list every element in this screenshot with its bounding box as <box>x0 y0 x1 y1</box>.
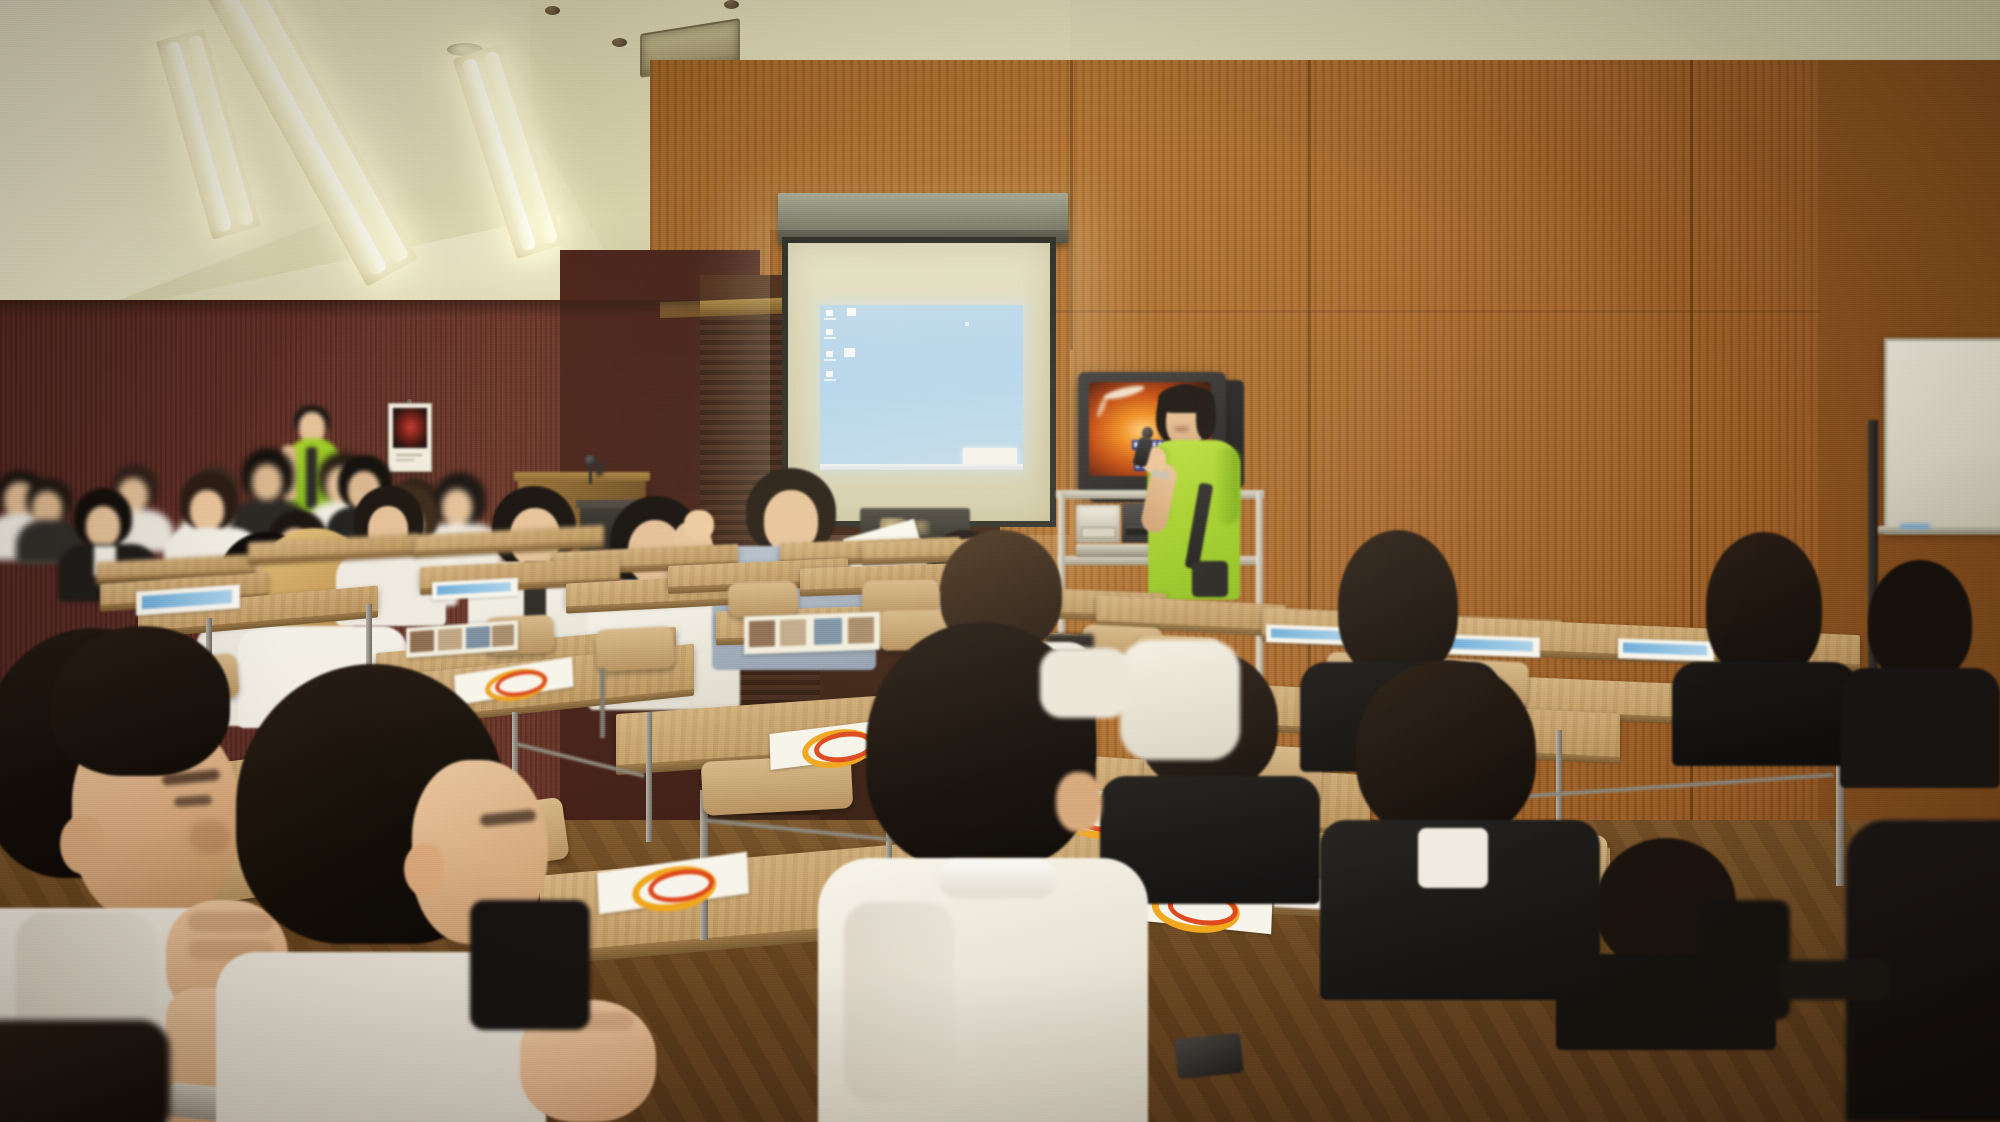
whiteboard-tray <box>1878 526 2000 534</box>
person-legs <box>1700 900 1790 1020</box>
audience-person <box>1672 532 1858 748</box>
ear <box>404 844 444 896</box>
sprinkler-icon <box>545 6 560 15</box>
dark-handheld-device <box>1174 1033 1244 1080</box>
wall-top-shadow <box>0 300 700 318</box>
projection-screen-housing <box>778 193 1068 243</box>
wall-seam <box>1070 60 1073 350</box>
chair-leg <box>600 668 605 738</box>
audience-shoulder <box>1040 648 1130 718</box>
desk-leg <box>646 712 652 842</box>
whiteboard <box>1884 338 2000 534</box>
audience-person <box>1840 560 2000 780</box>
sprinkler-icon <box>724 0 739 9</box>
sprinkler-icon <box>612 38 627 47</box>
whiteboard-marker <box>1900 524 1930 529</box>
shoe <box>1780 960 1890 1000</box>
shirt-collar <box>1418 828 1488 888</box>
presenter-bag <box>1192 561 1228 597</box>
person-legs <box>470 900 590 1030</box>
foreground-man-far-right <box>1320 660 1600 990</box>
ear <box>60 816 104 874</box>
projected-window <box>963 448 1017 465</box>
photo-scene <box>0 0 2000 1122</box>
presenter-figure <box>1140 385 1250 625</box>
chair <box>727 581 798 617</box>
projected-desktop-image <box>820 305 1023 470</box>
podium-top <box>514 472 650 481</box>
poster-image <box>393 408 427 448</box>
desk-item-dark <box>596 462 603 476</box>
foreground-man-center <box>236 664 536 1122</box>
audience-arm-white <box>1120 640 1240 760</box>
shirt-collar <box>938 860 1058 898</box>
audience-person <box>0 1020 170 1122</box>
chair <box>595 626 675 672</box>
podium-microphone-icon <box>585 455 596 466</box>
tv-screen-glare <box>1095 396 1109 419</box>
ear <box>1056 772 1102 832</box>
